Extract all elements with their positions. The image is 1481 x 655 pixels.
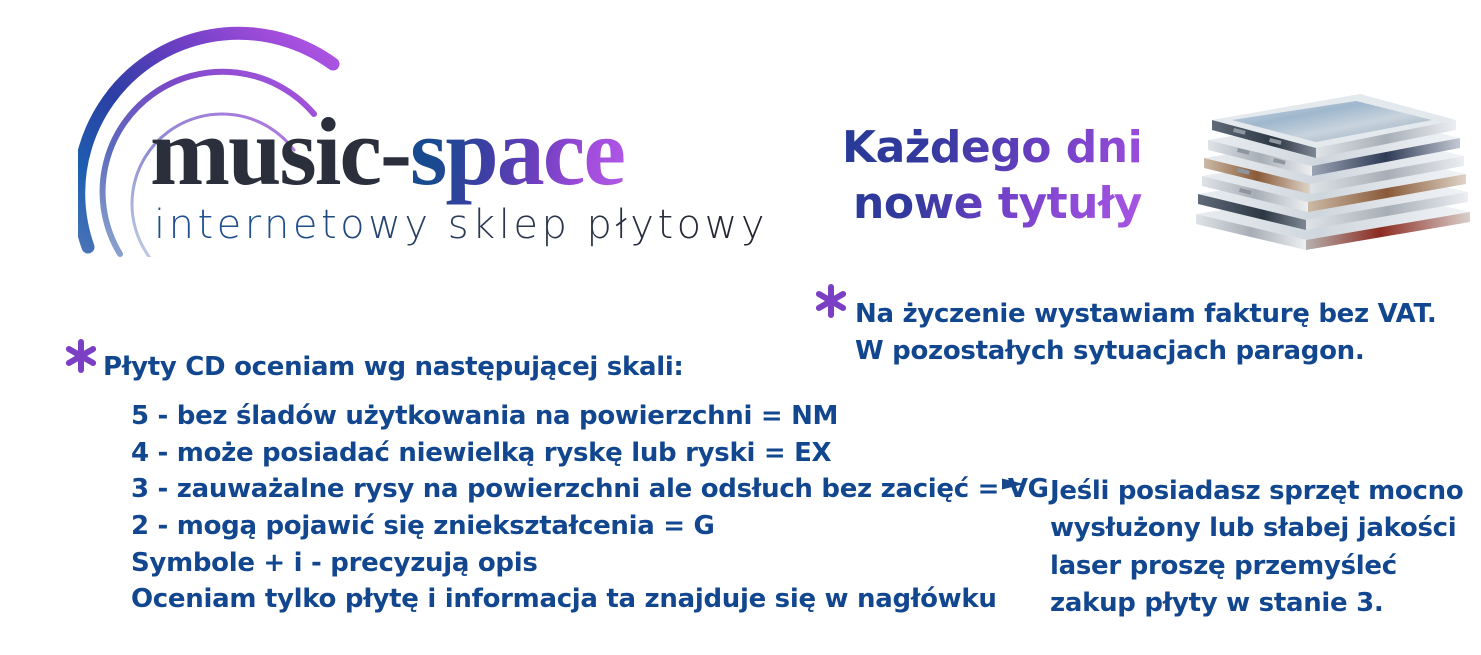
tagline-line-2: nowe tytuły — [842, 176, 1142, 232]
grading-heading-prefix: Płyty — [103, 352, 185, 382]
grading-item: 5 - bez śladów użytkowania na powierzchn… — [131, 398, 1049, 435]
grading-header-info-line: Oceniam tylko płytę i informacja ta znaj… — [131, 581, 1049, 618]
grading-item-text: 4 - może posiadać niewielką ryskę lub ry… — [131, 438, 794, 468]
laser-note-line-2: wysłużony lub słabej jakości — [1050, 510, 1463, 547]
logo-wordmark: music-space — [150, 104, 770, 204]
asterisk-bullet-icon — [814, 284, 848, 318]
laser-note-line-4: zakup płyty w stanie 3. — [1050, 585, 1463, 622]
grading-item-text: 5 - bez śladów użytkowania na powierzchn… — [131, 401, 791, 431]
logo-subtitle: internetowy sklep płytowy — [154, 202, 768, 248]
grading-item-text: 3 - zauważalne rysy na powierzchni ale o… — [131, 474, 1008, 504]
grading-item-text: 2 - mogą pojawić się zniekształcenia = — [131, 511, 693, 541]
grading-item-code: EX — [794, 438, 831, 468]
grading-list: 5 - bez śladów użytkowania na powierzchn… — [131, 398, 1049, 618]
grading-item-code: NM — [791, 401, 838, 431]
logo-word-space: space — [410, 98, 624, 205]
grading-item-code: G — [693, 511, 714, 541]
vat-note-line-1: Na życzenie wystawiam fakturę bez VAT. — [855, 296, 1437, 333]
tagline-line-1: Każdego dnia — [842, 120, 1142, 176]
site-logo[interactable]: music-space internetowy sklep płytowy — [78, 22, 778, 257]
cd-jewel-case-stack-photo — [1188, 62, 1476, 258]
vat-note-line-2: W pozostałych sytuacjach paragon. — [855, 333, 1437, 370]
laser-note-line-1: Jeśli posiadasz sprzęt mocno — [1050, 473, 1463, 510]
laser-note-line-3: laser proszę przemyśleć — [1050, 548, 1463, 585]
logo-word-music: music- — [150, 98, 410, 205]
asterisk-bullet-icon — [64, 339, 98, 373]
grading-item: 4 - może posiadać niewielką ryskę lub ry… — [131, 435, 1049, 472]
grading-item: 3 - zauważalne rysy na powierzchni ale o… — [131, 471, 1049, 508]
vat-note: Na życzenie wystawiam fakturę bez VAT. W… — [855, 296, 1437, 370]
grading-heading-cd: CD — [185, 352, 225, 382]
banner-image: music-space internetowy sklep płytowy Ka… — [0, 0, 1481, 655]
grading-heading: Płyty CD oceniam wg następującej skali: — [103, 352, 684, 382]
right-arrow-icon — [944, 474, 1056, 494]
grading-item: 2 - mogą pojawić się zniekształcenia = G — [131, 508, 1049, 545]
grading-symbols-line: Symbole + i - precyzują opis — [131, 545, 1049, 582]
tagline: Każdego dnia nowe tytuły — [842, 120, 1142, 233]
grading-heading-suffix: oceniam wg następującej skali: — [225, 352, 683, 382]
laser-note: Jeśli posiadasz sprzęt mocno wysłużony l… — [1050, 473, 1463, 623]
